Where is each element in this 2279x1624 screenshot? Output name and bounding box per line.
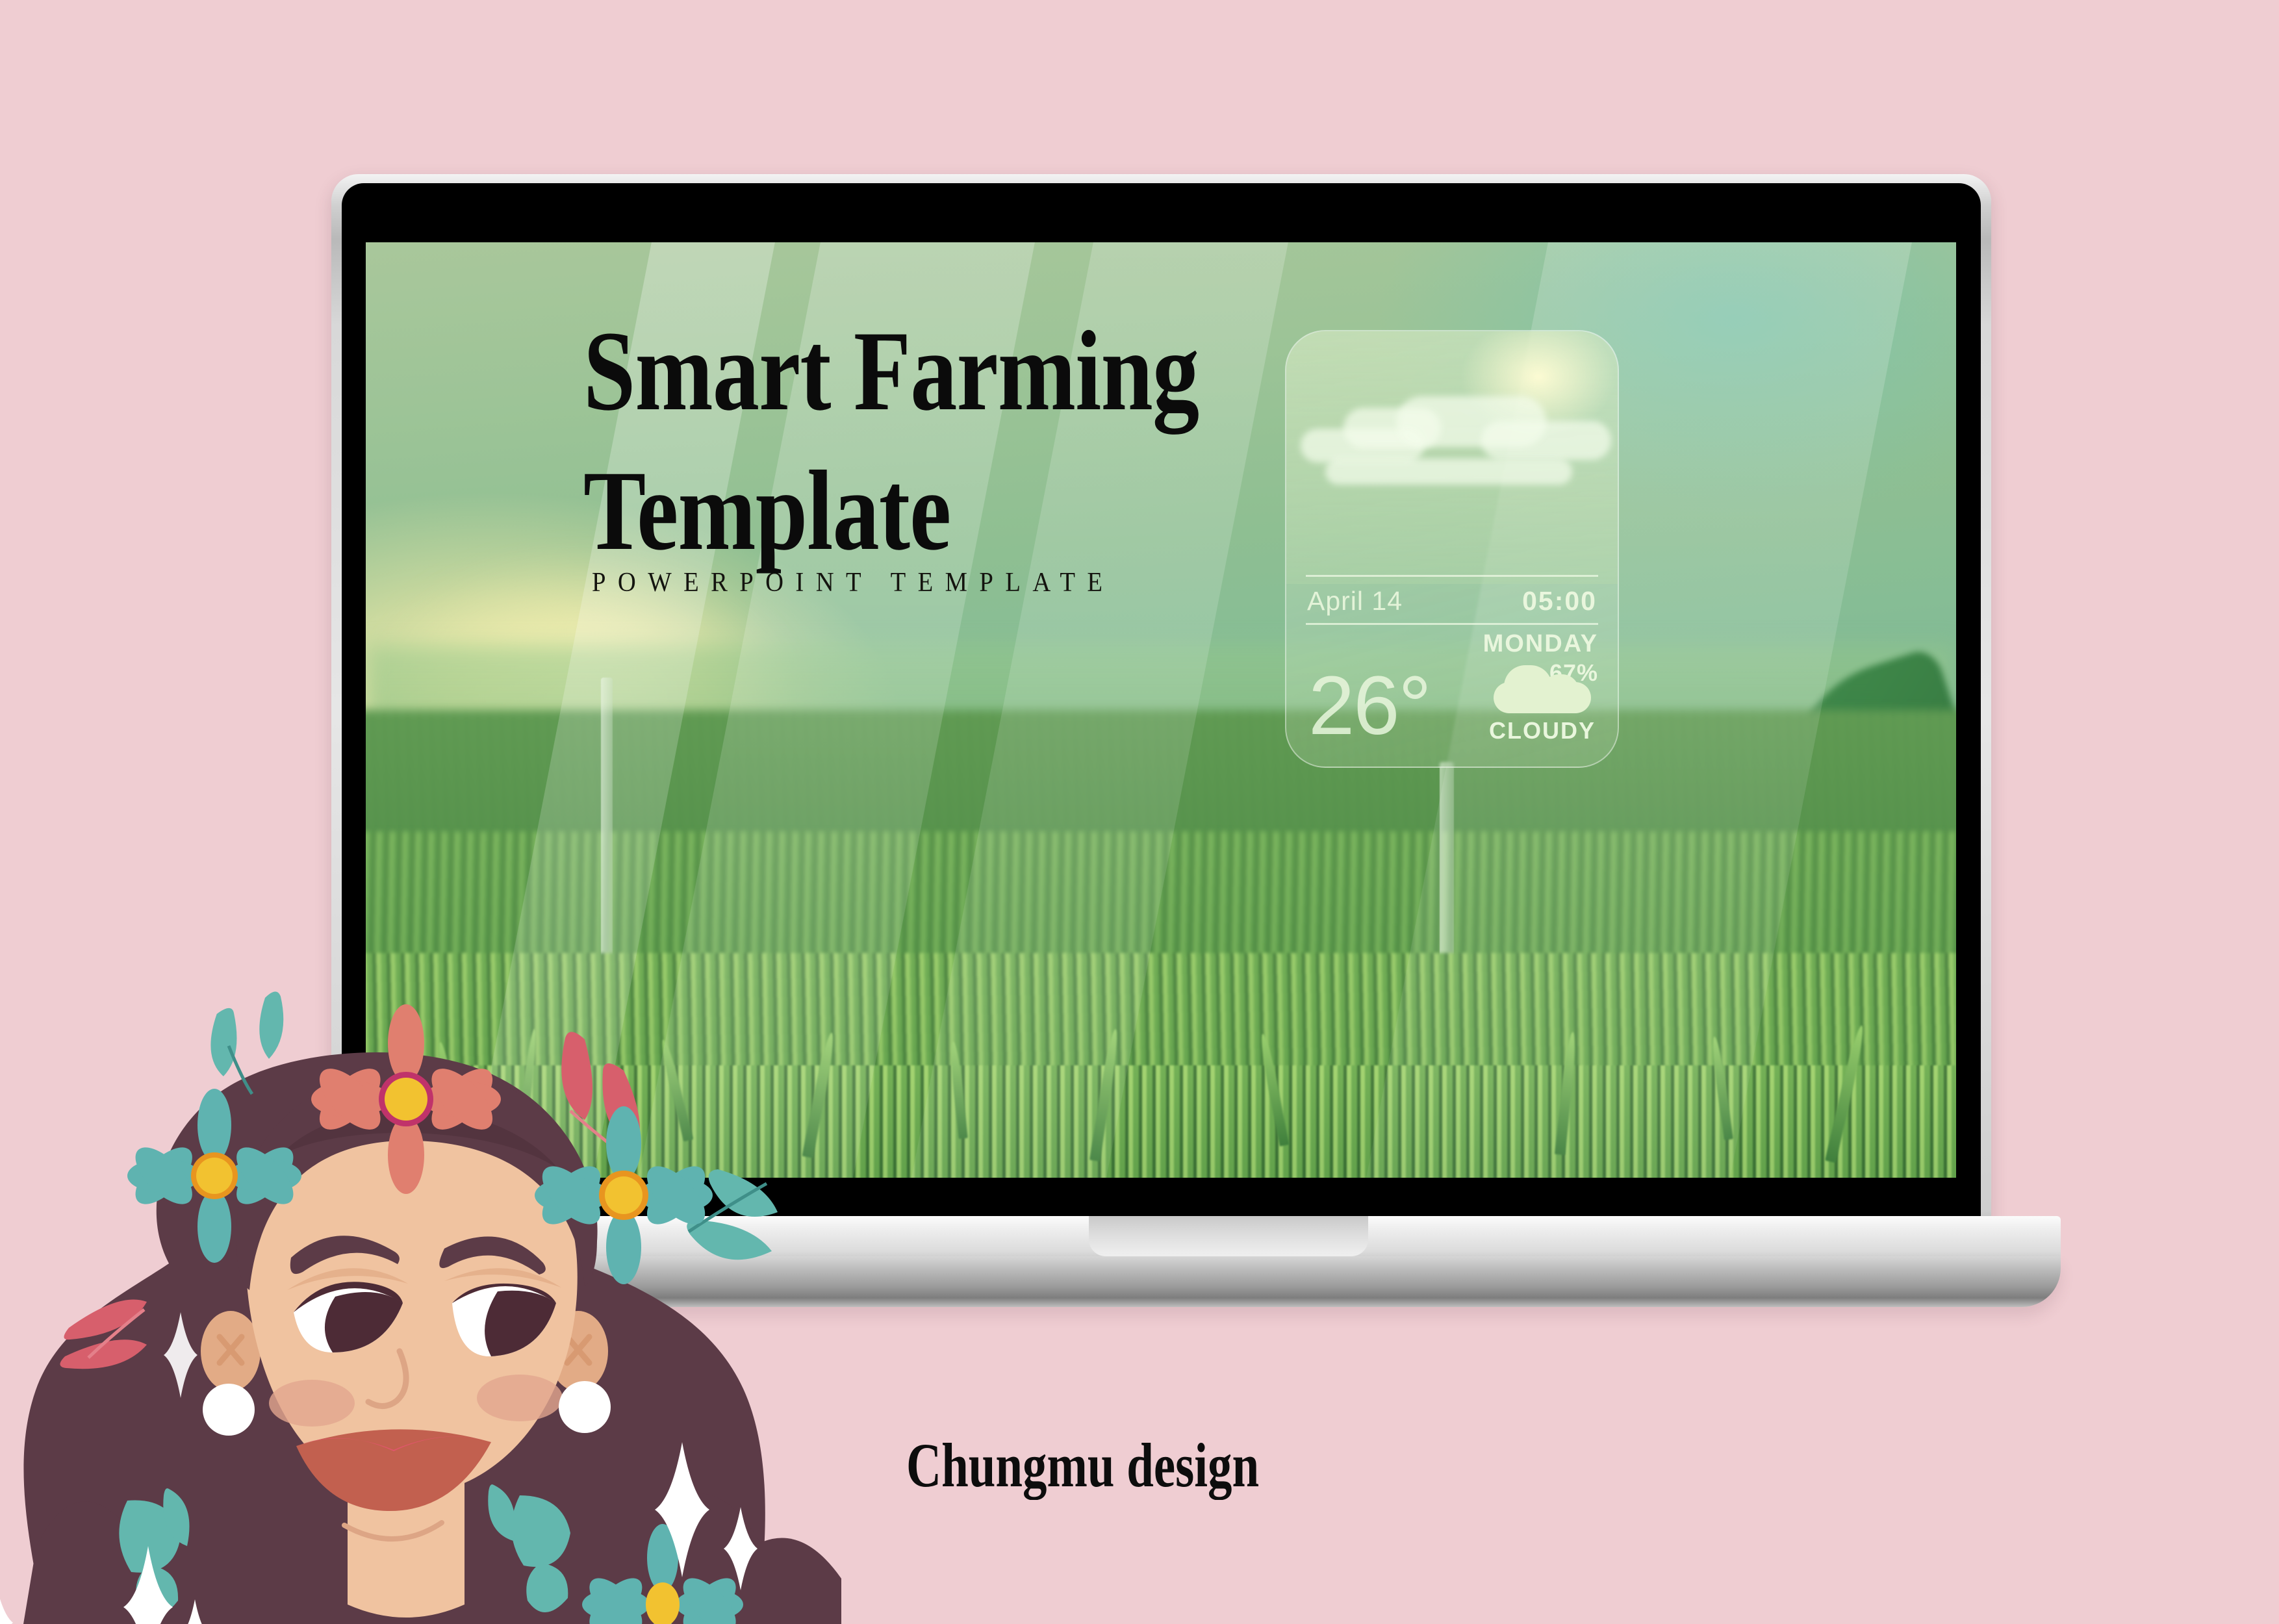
widget-date: April 14 xyxy=(1307,586,1403,616)
slide-title-line-1: Smart Farming xyxy=(583,302,1308,442)
character-illustration xyxy=(0,896,858,1624)
widget-divider-top xyxy=(1306,575,1598,577)
widget-time: 05:00 xyxy=(1522,586,1597,616)
widget-divider-bottom xyxy=(1306,623,1598,625)
footer-brand-label: Chungmu design xyxy=(906,1429,1259,1501)
widget-temperature: 26° xyxy=(1308,668,1431,744)
weather-widget[interactable]: April 14 05:00 MONDAY 67% 26° xyxy=(1285,330,1619,768)
slide-title: Smart Farming Template xyxy=(583,302,1308,581)
widget-day: MONDAY xyxy=(1306,630,1598,658)
page-root: Smart Farming Template POWERPOINT TEMPLA… xyxy=(0,0,2279,1611)
widget-condition: CLOUDY xyxy=(1489,717,1596,744)
cloud-icon xyxy=(1494,660,1591,713)
laptop-base-notch xyxy=(1089,1216,1368,1256)
slide-subtitle: POWERPOINT TEMPLATE xyxy=(592,567,1114,598)
slide-title-line-2: Template xyxy=(583,442,1308,581)
widget-sky xyxy=(1286,331,1618,584)
